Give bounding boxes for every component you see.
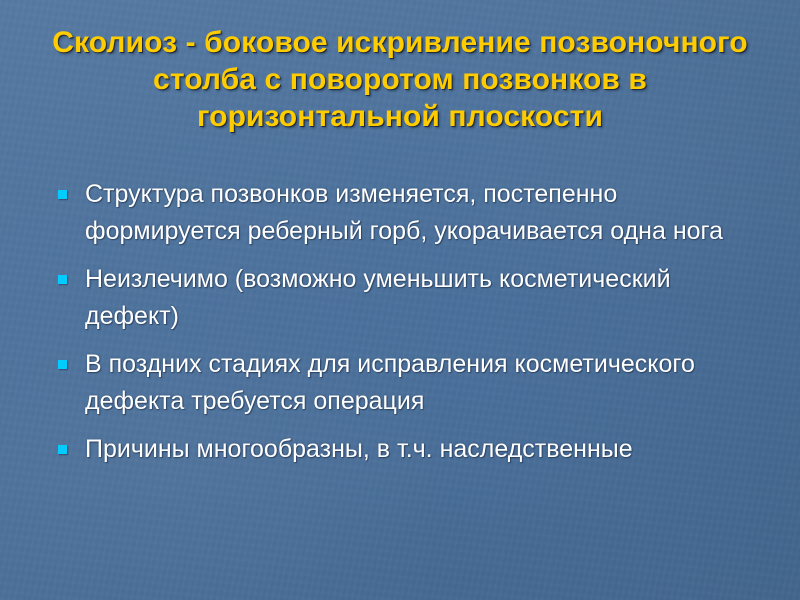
square-bullet-icon	[58, 190, 67, 199]
list-item-text: Неизлечимо (возможно уменьшить косметиче…	[85, 261, 755, 335]
list-item: В поздних стадиях для исправления космет…	[55, 346, 755, 420]
list-item: Причины многообразны, в т.ч. наследствен…	[55, 431, 755, 468]
list-item: Структура позвонков изменяется, постепен…	[55, 176, 755, 250]
slide-title: Сколиоз - боковое искривление позвоночно…	[40, 24, 760, 135]
square-bullet-icon	[58, 360, 67, 369]
list-item-text: Причины многообразны, в т.ч. наследствен…	[85, 431, 755, 468]
square-bullet-icon	[58, 445, 67, 454]
square-bullet-icon	[58, 275, 67, 284]
presentation-slide: Сколиоз - боковое искривление позвоночно…	[0, 0, 800, 600]
list-item-text: В поздних стадиях для исправления космет…	[85, 346, 755, 420]
list-item-text: Структура позвонков изменяется, постепен…	[85, 176, 755, 250]
slide-bullet-list: Структура позвонков изменяется, постепен…	[55, 176, 755, 468]
list-item: Неизлечимо (возможно уменьшить косметиче…	[55, 261, 755, 335]
